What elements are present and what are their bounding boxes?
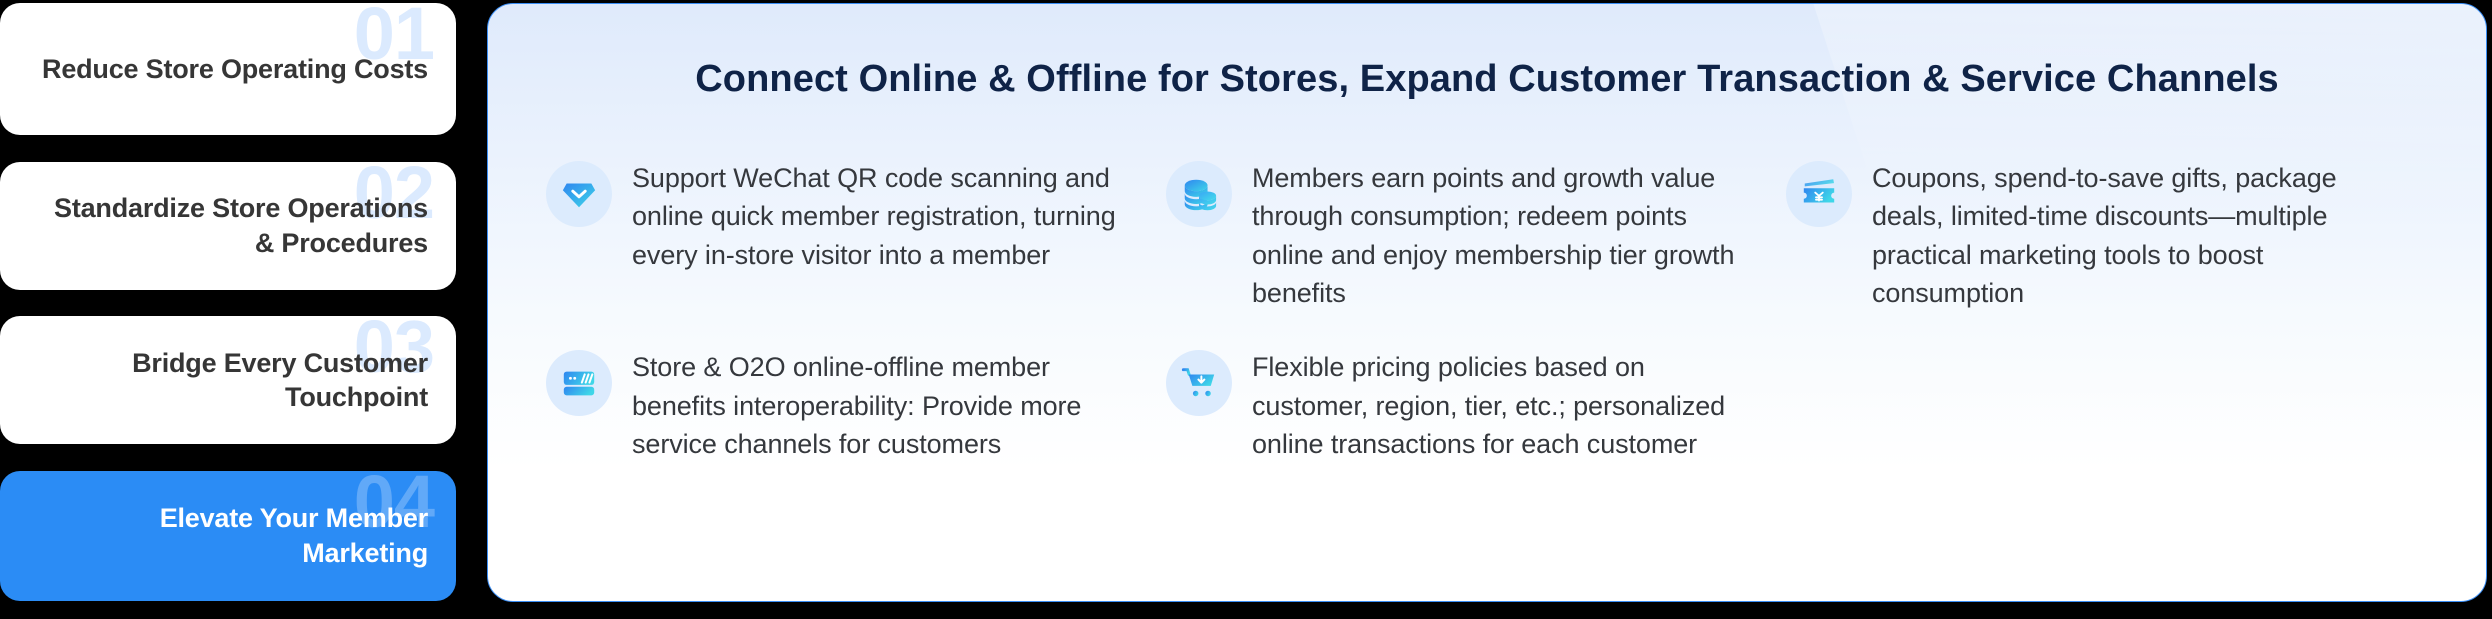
feature-item: Members earn points and growth value thr… <box>1166 159 1786 312</box>
sidebar-item-label: Elevate Your Member Marketing <box>40 501 428 570</box>
feature-item: Flexible pricing policies based on custo… <box>1166 348 1786 463</box>
membership-card-icon <box>546 350 612 416</box>
feature-item: Store & O2O online-offline member benefi… <box>546 348 1166 463</box>
sidebar-item-standardize-store-operations[interactable]: 02 Standardize Store Operations & Proced… <box>0 162 456 290</box>
sidebar-item-elevate-your-member-marketing[interactable]: 04 Elevate Your Member Marketing <box>0 471 456 601</box>
content-panel: Connect Online & Offline for Stores, Exp… <box>487 3 2487 602</box>
sidebar-item-label: Standardize Store Operations & Procedure… <box>40 191 428 260</box>
feature-grid: Support WeChat QR code scanning and onli… <box>546 159 2486 463</box>
sidebar-item-label: Bridge Every Customer Touchpoint <box>40 346 428 415</box>
page-title: Connect Online & Offline for Stores, Exp… <box>488 58 2486 101</box>
slide-root: 01 Reduce Store Operating Costs 02 Stand… <box>0 0 2492 619</box>
feature-text: Members earn points and growth value thr… <box>1252 159 1752 312</box>
feature-item: Coupons, spend-to-save gifts, package de… <box>1786 159 2406 312</box>
sidebar-item-reduce-store-operating-costs[interactable]: 01 Reduce Store Operating Costs <box>0 3 456 135</box>
feature-text: Flexible pricing policies based on custo… <box>1252 348 1752 463</box>
feature-text: Coupons, spend-to-save gifts, package de… <box>1872 159 2372 312</box>
feature-text: Store & O2O online-offline member benefi… <box>632 348 1132 463</box>
sidebar-item-bridge-every-customer-touchpoint[interactable]: 03 Bridge Every Customer Touchpoint <box>0 316 456 444</box>
sidebar-nav: 01 Reduce Store Operating Costs 02 Stand… <box>0 0 458 619</box>
stacked-coins-icon <box>1166 161 1232 227</box>
coupon-ticket-icon <box>1786 161 1852 227</box>
sidebar-item-label: Reduce Store Operating Costs <box>42 52 428 87</box>
grid-spacer <box>1786 348 2406 463</box>
feature-item: Support WeChat QR code scanning and onli… <box>546 159 1166 312</box>
feature-text: Support WeChat QR code scanning and onli… <box>632 159 1132 274</box>
diamond-gem-icon <box>546 161 612 227</box>
shopping-cart-download-icon <box>1166 350 1232 416</box>
